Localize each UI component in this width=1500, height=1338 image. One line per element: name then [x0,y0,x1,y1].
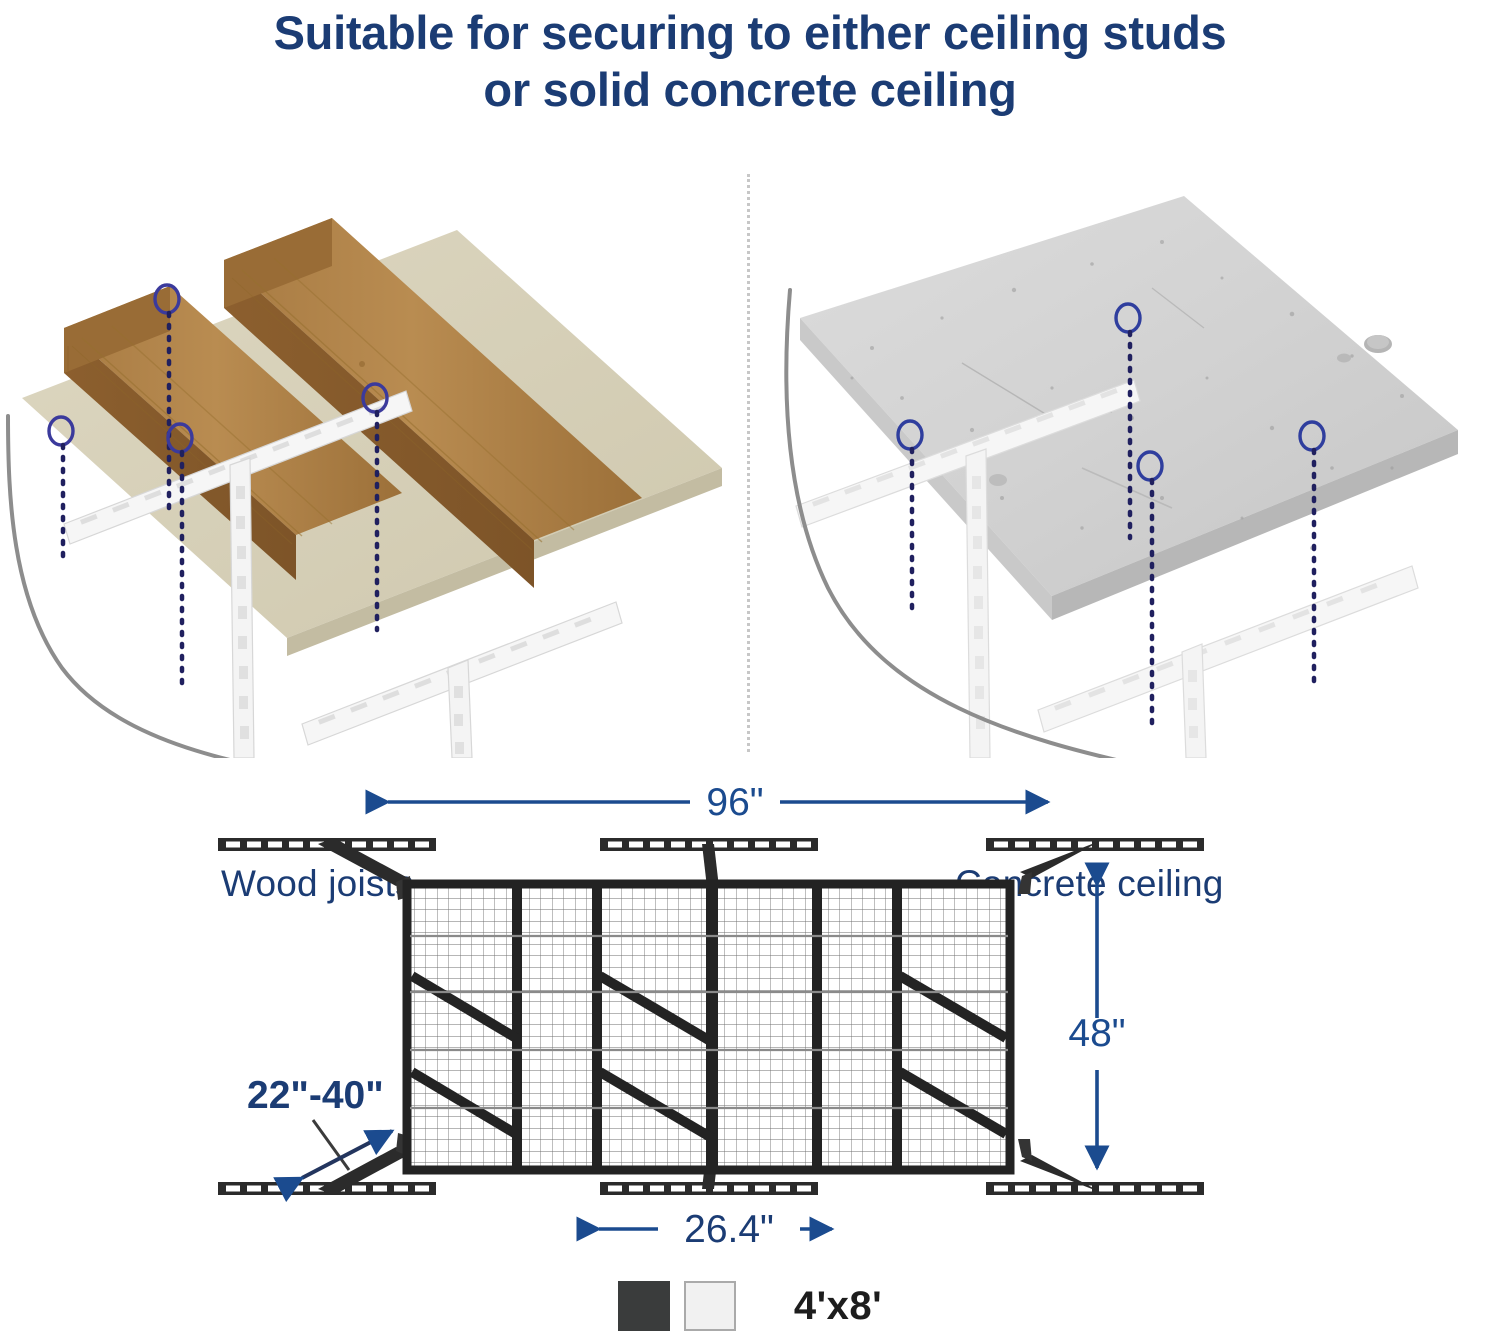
dimension-bay-26-4: 26.4" [599,1208,832,1251]
ceiling-bracket-bottom-right [986,1139,1204,1195]
title-line-2: or solid concrete ceiling [0,61,1500,118]
rack-post-front [448,660,472,758]
legend: 4'x8' [0,1281,1500,1331]
dimension-width-label: 96" [706,781,763,824]
dimension-drop-label: 22"-40" [247,1074,384,1117]
wood-joists-svg [2,168,742,758]
rack-post-rear [230,458,254,758]
concrete-ceiling-illustration [752,168,1492,758]
rack-diagram-svg: 96" [0,760,1500,1270]
legend-size-label: 4'x8' [794,1284,882,1329]
dimension-height-label: 48" [1068,1012,1125,1055]
rack-dimensions-diagram: 96" [0,760,1500,1270]
dimension-width-96: 96" [388,781,1048,824]
rack-post-front [1182,644,1206,758]
ceiling-bracket-top-right [986,838,1204,894]
wood-joists-illustration [2,168,742,758]
illustration-row: Wood joists Concrete ceiling [0,168,1500,758]
panel-divider [747,174,750,752]
concrete-ceiling-svg [752,168,1492,758]
dimension-height-48: 48" [1068,885,1125,1168]
light-swatch [684,1281,736,1331]
dark-swatch [618,1281,670,1331]
dimension-bay-label: 26.4" [684,1208,774,1251]
title-line-1: Suitable for securing to either ceiling … [0,4,1500,61]
page-title: Suitable for securing to either ceiling … [0,4,1500,119]
